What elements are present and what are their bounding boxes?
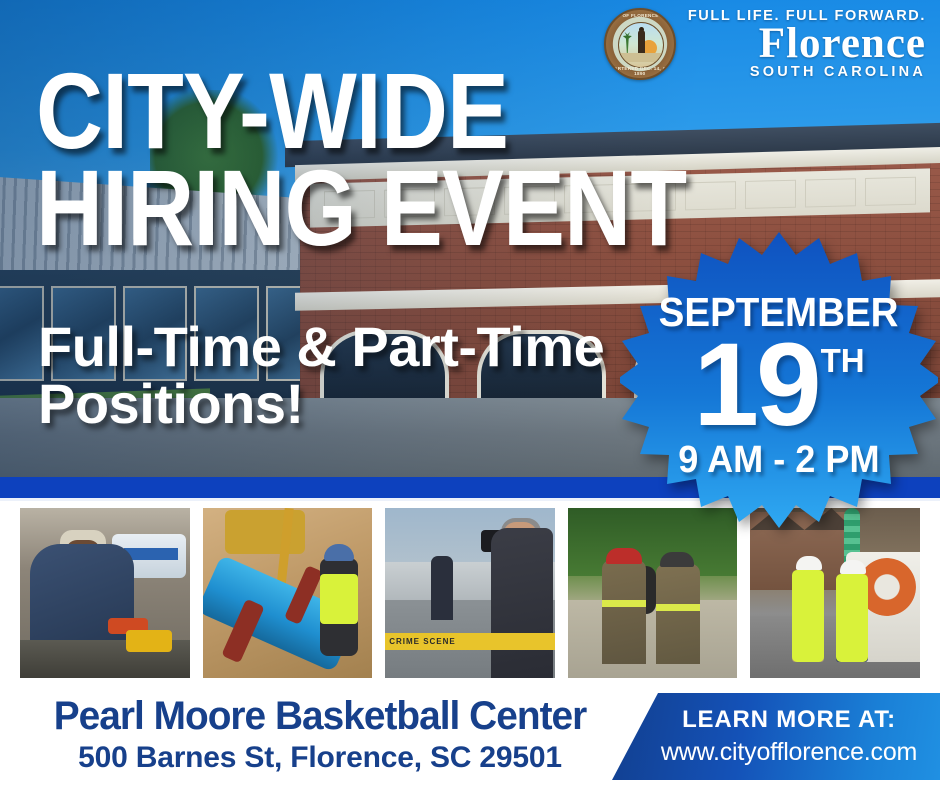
city-seal-icon: CITY OF FLORENCE S.C. CHARTERED DEC. 14,… [604,8,676,80]
venue-block: Pearl Moore Basketball Center 500 Barnes… [30,695,610,775]
photo-fleet-mechanic [20,508,190,678]
learn-more-label: LEARN MORE AT: [656,706,896,734]
subtitle: Full-Time & Part-Time Positions! [38,318,618,432]
website-url-link[interactable]: www.cityofflorence.com [635,738,917,767]
brand-name: Florence [688,24,926,64]
date-starburst-badge: SEPTEMBER 19 TH 9 AM - 2 PM [620,228,938,546]
footer: Pearl Moore Basketball Center 500 Barnes… [0,685,940,788]
brand-state: SOUTH CAROLINA [688,65,926,80]
hiring-event-flyer: CITY OF FLORENCE S.C. CHARTERED DEC. 14,… [0,0,940,788]
venue-address: 500 Barnes St, Florence, SC 29501 [30,741,610,775]
venue-name: Pearl Moore Basketball Center [39,695,602,737]
headline-line-2: HIRING EVENT [36,159,686,256]
city-of-florence-logo: CITY OF FLORENCE S.C. CHARTERED DEC. 14,… [604,8,926,80]
learn-more-panel[interactable]: LEARN MORE AT: www.cityofflorence.com [612,693,940,780]
crime-scene-tape-text: CRIME SCENE [385,633,555,650]
page-title: CITY-WIDE HIRING EVENT [36,62,686,256]
crime-scene-tape: CRIME SCENE [385,633,555,650]
seal-top-text: CITY OF FLORENCE S.C. [606,13,674,18]
photo-police-crime-scene: CRIME SCENE [385,508,555,678]
photo-water-main-pipe-crew [203,508,373,678]
seal-bottom-text: CHARTERED DEC. 14, A.D. 1890 [606,66,674,76]
florence-wordmark: FULL LIFE. FULL FORWARD. Florence SOUTH … [688,9,926,80]
